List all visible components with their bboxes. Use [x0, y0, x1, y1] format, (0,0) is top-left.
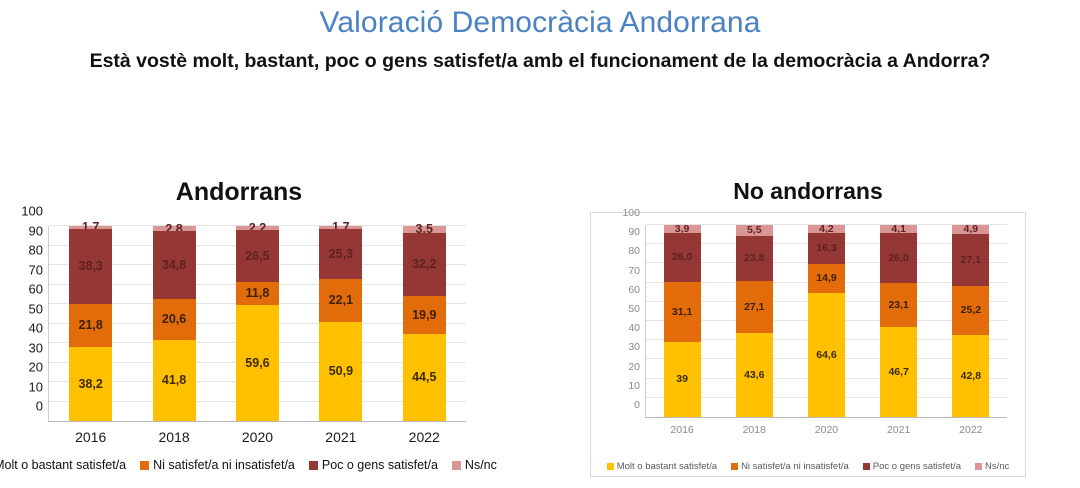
x-axis-tick: 2016: [664, 424, 701, 436]
bar-value-label: 14,9: [816, 273, 836, 284]
bar-segment[interactable]: 42,8: [952, 335, 989, 417]
legend-label: Poc o gens satisfet/a: [322, 458, 438, 472]
bar-segment[interactable]: 25,3: [319, 229, 362, 278]
y-axis-tick: 100: [622, 207, 646, 219]
bar-segment[interactable]: 16,3: [808, 233, 845, 264]
legend-item[interactable]: Molt o bastant satisfet/a: [607, 461, 717, 472]
bar-stack: 4,126,023,146,7: [880, 225, 917, 417]
bar-segment[interactable]: 41,8: [153, 340, 196, 422]
bar-value-label: 46,7: [888, 367, 908, 378]
plot-grid-no-andorrans: 10090807060504030201003,926,031,1395,523…: [645, 225, 1007, 418]
page-title: Valoració Democràcia Andorrana: [0, 6, 1080, 40]
bar-segment[interactable]: 34,8: [153, 231, 196, 299]
y-axis-tick: 50: [628, 303, 646, 315]
legend-label: Poc o gens satisfet/a: [873, 461, 961, 472]
bar-value-label: 11,8: [246, 287, 270, 300]
y-axis-tick: 20: [628, 361, 646, 373]
bar-value-label: 20,6: [162, 313, 186, 326]
page-subtitle: Està vostè molt, bastant, poc o gens sat…: [0, 49, 1080, 73]
plot-area-no-andorrans: 10090807060504030201003,926,031,1395,523…: [645, 225, 1007, 418]
chart-title-andorrans: Andorrans: [0, 178, 478, 206]
bar-segment[interactable]: 59,6: [236, 305, 279, 421]
bar-segment[interactable]: 21,8: [69, 304, 112, 347]
legend-item[interactable]: Ns/nc: [975, 461, 1009, 472]
y-axis-tick: 10: [29, 379, 49, 394]
x-axis-tick: 2020: [808, 424, 845, 436]
bar-value-label: 25,3: [329, 248, 353, 261]
bar-segment[interactable]: 26,5: [236, 230, 279, 282]
bar-stack: 4,927,125,242,8: [952, 225, 989, 417]
x-axis: 20162018202020212022: [49, 421, 466, 445]
bar-value-label: 23,8: [744, 253, 764, 264]
x-axis-tick: 2021: [319, 429, 362, 445]
plot-wrap-andorrans: 10090807060504030201001,738,321,838,22,8…: [4, 222, 474, 470]
legend-label: Ni satisfet/a ni insatisfet/a: [741, 461, 849, 472]
legend-swatch-icon: [309, 461, 318, 470]
bar-segment[interactable]: 19,9: [403, 296, 446, 335]
bar-segment[interactable]: 43,6: [736, 333, 773, 417]
bar-value-label: 31,1: [672, 307, 692, 318]
chart-frame-no-andorrans: 10090807060504030201003,926,031,1395,523…: [590, 212, 1026, 477]
y-axis-tick: 70: [628, 265, 646, 277]
legend-item[interactable]: Ni satisfet/a ni insatisfet/a: [140, 458, 295, 472]
bar-value-label: 23,1: [888, 300, 908, 311]
bar-segment[interactable]: 23,8: [736, 236, 773, 282]
bar-value-label: 25,2: [961, 305, 981, 316]
y-axis-tick: 60: [29, 282, 49, 297]
chart-frame-andorrans: 10090807060504030201001,738,321,838,22,8…: [0, 216, 478, 474]
bar-column[interactable]: 5,523,827,143,6: [736, 225, 773, 417]
legend-item[interactable]: Ns/nc: [452, 458, 497, 472]
x-axis-tick: 2021: [880, 424, 917, 436]
legend-swatch-icon: [607, 463, 614, 470]
bar-segment[interactable]: 14,9: [808, 264, 845, 293]
y-axis-tick: 50: [29, 301, 49, 316]
bar-value-label: 39: [676, 374, 688, 385]
bar-value-label: 19,9: [412, 309, 436, 322]
legend-label: Ns/nc: [985, 461, 1009, 472]
bar-column[interactable]: 3,926,031,139: [664, 225, 701, 417]
bar-stack: 1,725,322,150,9: [319, 226, 362, 421]
bar-value-label: 38,3: [79, 260, 103, 273]
bar-segment[interactable]: 5,5: [736, 225, 773, 236]
chart-legend-no-andorrans: Molt o bastant satisfet/aNi satisfet/a n…: [591, 461, 1025, 472]
legend-item[interactable]: Ni satisfet/a ni insatisfet/a: [731, 461, 849, 472]
chart-panel-andorrans: Andorrans 10090807060504030201001,738,32…: [0, 178, 478, 488]
bar-segment[interactable]: 31,1: [664, 282, 701, 342]
legend-label: Molt o bastant satisfet/a: [617, 461, 717, 472]
charts-container: Andorrans 10090807060504030201001,738,32…: [0, 73, 1080, 423]
bar-column[interactable]: 4,216,314,964,6: [808, 225, 845, 417]
bar-segment[interactable]: 3,9: [664, 225, 701, 232]
bar-stack: 1,738,321,838,2: [69, 226, 112, 421]
chart-panel-no-andorrans: No andorrans 10090807060504030201003,926…: [590, 178, 1026, 481]
bar-segment[interactable]: 32,2: [403, 233, 446, 296]
legend-item[interactable]: Poc o gens satisfet/a: [309, 458, 438, 472]
bar-group: 1,738,321,838,22,834,820,641,82,226,511,…: [49, 226, 466, 421]
bar-segment[interactable]: 27,1: [736, 281, 773, 333]
legend-label: Ni satisfet/a ni insatisfet/a: [153, 458, 295, 472]
legend-swatch-icon: [863, 463, 870, 470]
bar-value-label: 27,1: [961, 255, 981, 266]
bar-value-label: 22,1: [329, 294, 353, 307]
y-axis-tick: 80: [628, 245, 646, 257]
bar-segment[interactable]: 3,5: [403, 226, 446, 233]
bar-stack: 2,834,820,641,8: [153, 226, 196, 421]
legend-swatch-icon: [731, 463, 738, 470]
x-axis-tick: 2018: [153, 429, 196, 445]
bar-segment[interactable]: 23,1: [880, 283, 917, 327]
bar-column[interactable]: 1,725,322,150,9: [319, 226, 362, 421]
x-axis-tick: 2022: [403, 429, 446, 445]
legend-swatch-icon: [140, 461, 149, 470]
y-axis-tick: 10: [628, 380, 646, 392]
bar-value-label: 21,8: [79, 319, 103, 332]
bar-value-label: 16,3: [816, 243, 836, 254]
bar-value-label: 64,6: [816, 350, 836, 361]
bar-segment[interactable]: 50,9: [319, 322, 362, 421]
x-axis-tick: 2018: [736, 424, 773, 436]
y-axis-tick: 40: [29, 321, 49, 336]
bar-value-label: 26,0: [672, 252, 692, 263]
y-axis-tick: 100: [21, 204, 49, 219]
x-axis-tick: 2022: [952, 424, 989, 436]
legend-label: Ns/nc: [465, 458, 497, 472]
x-axis-tick: 2020: [236, 429, 279, 445]
bar-segment[interactable]: 22,1: [319, 279, 362, 322]
plot-area-andorrans: 10090807060504030201001,738,321,838,22,8…: [48, 226, 466, 422]
bar-column[interactable]: 1,738,321,838,2: [69, 226, 112, 421]
bar-stack: 5,523,827,143,6: [736, 225, 773, 417]
bar-segment[interactable]: 20,6: [153, 299, 196, 339]
bar-value-label: 26,0: [888, 253, 908, 264]
legend-label: Molt o bastant satisfet/a: [0, 458, 126, 472]
legend-item[interactable]: Poc o gens satisfet/a: [863, 461, 961, 472]
bar-column[interactable]: 3,532,219,944,5: [403, 226, 446, 421]
bar-segment[interactable]: 64,6: [808, 293, 845, 417]
bar-value-label: 5,5: [747, 225, 762, 236]
bar-segment[interactable]: 44,5: [403, 334, 446, 421]
bar-value-label: 27,1: [744, 302, 764, 313]
plot-grid-andorrans: 10090807060504030201001,738,321,838,22,8…: [48, 226, 466, 422]
bar-value-label: 44,5: [412, 371, 436, 384]
bar-value-label: 42,8: [961, 371, 981, 382]
y-axis-tick: 70: [29, 262, 49, 277]
bar-value-label: 41,8: [162, 374, 186, 387]
legend-swatch-icon: [452, 461, 461, 470]
bar-value-label: 32,2: [412, 258, 436, 271]
bar-value-label: 26,5: [245, 250, 269, 263]
chart-title-no-andorrans: No andorrans: [590, 178, 1026, 204]
y-axis-tick: 80: [29, 243, 49, 258]
y-axis-tick: 30: [29, 340, 49, 355]
bar-stack: 2,226,511,859,6: [236, 226, 279, 421]
bar-stack: 3,926,031,139: [664, 225, 701, 417]
bar-segment[interactable]: 4,2: [808, 225, 845, 233]
y-axis-tick: 30: [628, 341, 646, 353]
bar-segment[interactable]: 27,1: [952, 234, 989, 286]
y-axis-tick: 60: [628, 284, 646, 296]
bar-segment[interactable]: 26,0: [880, 233, 917, 283]
y-axis-tick: 20: [29, 360, 49, 375]
x-axis-tick: 2016: [69, 429, 112, 445]
bar-stack: 4,216,314,964,6: [808, 225, 845, 417]
bar-segment[interactable]: 39: [664, 342, 701, 417]
bar-segment[interactable]: 26,0: [664, 233, 701, 283]
bar-stack: 3,532,219,944,5: [403, 226, 446, 421]
bar-segment[interactable]: 38,2: [69, 347, 112, 421]
y-axis-tick: 90: [29, 223, 49, 238]
bar-column[interactable]: 2,834,820,641,8: [153, 226, 196, 421]
y-axis-tick: 90: [628, 226, 646, 238]
bar-segment[interactable]: 11,8: [236, 282, 279, 305]
y-axis-tick: 0: [36, 399, 49, 414]
bar-value-label: 38,2: [79, 378, 103, 391]
bar-value-label: 59,6: [245, 357, 269, 370]
y-axis-tick: 0: [634, 399, 646, 411]
bar-value-label: 50,9: [329, 365, 353, 378]
y-axis-tick: 40: [628, 322, 646, 334]
bar-value-label: 43,6: [744, 370, 764, 381]
bar-segment[interactable]: 25,2: [952, 286, 989, 334]
page-header: Valoració Democràcia Andorrana Està vost…: [0, 6, 1080, 73]
bar-column[interactable]: 2,226,511,859,6: [236, 226, 279, 421]
legend-item[interactable]: Molt o bastant satisfet/a: [0, 458, 126, 472]
bar-column[interactable]: 4,927,125,242,8: [952, 225, 989, 417]
bar-segment[interactable]: 38,3: [69, 229, 112, 304]
bar-segment[interactable]: 4,1: [880, 225, 917, 233]
bar-segment[interactable]: 46,7: [880, 327, 917, 417]
legend-swatch-icon: [975, 463, 982, 470]
bar-group: 3,926,031,1395,523,827,143,64,216,314,96…: [646, 225, 1007, 417]
chart-legend-andorrans: Molt o bastant satisfet/aNi satisfet/a n…: [0, 458, 478, 472]
bar-segment[interactable]: 4,9: [952, 225, 989, 234]
plot-wrap-no-andorrans: 10090807060504030201003,926,031,1395,523…: [599, 221, 1017, 470]
x-axis: 20162018202020212022: [646, 417, 1007, 436]
bar-column[interactable]: 4,126,023,146,7: [880, 225, 917, 417]
bar-value-label: 34,8: [162, 259, 186, 272]
bar-value-label: 4,9: [964, 224, 979, 235]
